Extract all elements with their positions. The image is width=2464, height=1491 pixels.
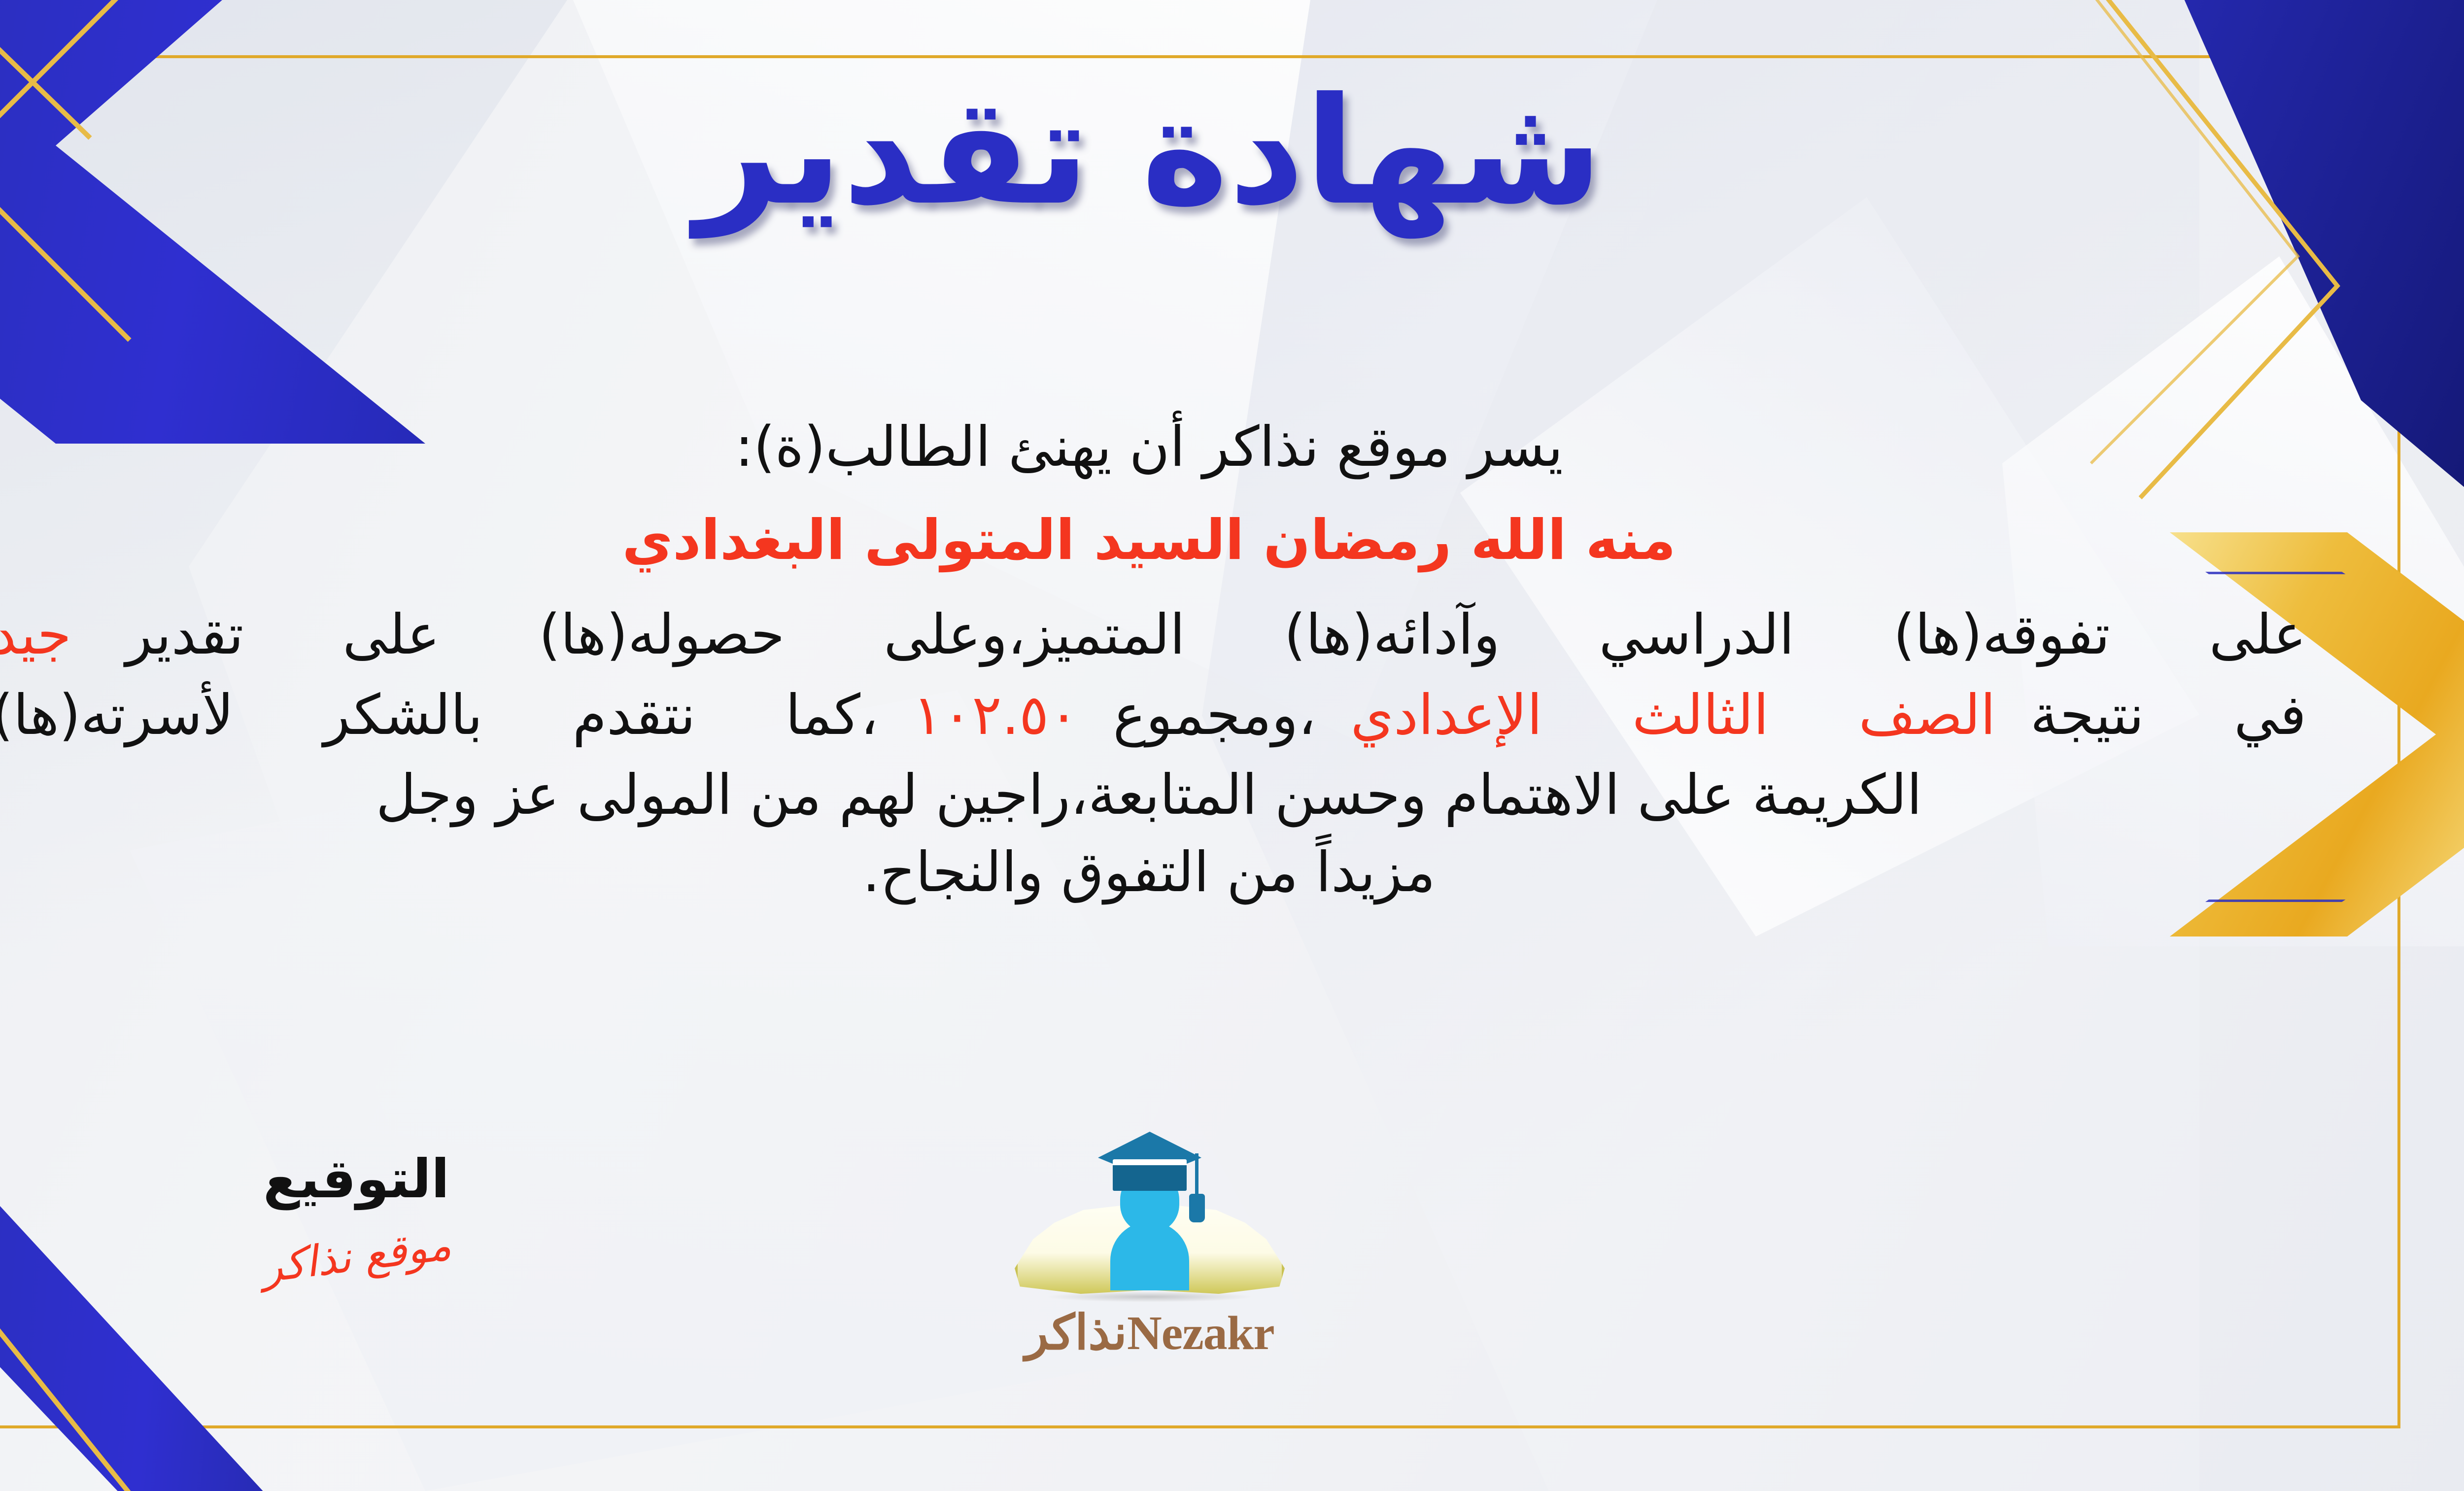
grade-value: جيد — [0, 603, 71, 667]
logo-name-latin: Nezakr — [1127, 1307, 1274, 1360]
total-label: ،ومجموع — [1113, 683, 1316, 747]
graduation-tassel-icon — [1195, 1153, 1198, 1197]
achievement-text: على تفوقه(ها) الدراسي وآدائه(ها) المتميز… — [126, 603, 2306, 667]
closing-line: مزيداً من التفوق والنجاح. — [0, 834, 2306, 911]
student-name: منه الله رمضان السيد المتولى البغدادي — [0, 502, 2306, 579]
signature-block: التوقيع موقع نذاكر — [199, 1148, 514, 1281]
family-thanks-line: الكريمة على الاهتمام وحسن المتابعة،راجين… — [0, 757, 2306, 833]
certificate-canvas: شهادة تقدير يسر موقع نذاكر أن يهنئ الطال… — [0, 0, 2464, 1491]
signature-label: التوقيع — [199, 1148, 514, 1210]
intro-line: يسر موقع نذاكر أن يهنئ الطالب(ة): — [0, 409, 2306, 485]
book-shadow — [1046, 1291, 1253, 1302]
stage-score-line: في نتيجةالصف الثالث الإعدادي،ومجموع١٠٢.٥… — [0, 677, 2306, 754]
certificate-body: يسر موقع نذاكر أن يهنئ الطالب(ة): منه ال… — [0, 409, 2306, 910]
site-logo: Nezakrنذاكر — [967, 1129, 1332, 1361]
logo-wordmark: Nezakrنذاكر — [967, 1304, 1332, 1361]
chevron-gold-lines-top-left — [0, 0, 425, 463]
certificate-title: شهادة تقدير — [0, 74, 2464, 229]
total-score-value: ١٠٢.٥٠ — [913, 683, 1078, 747]
logo-name-arabic: نذاكر — [1025, 1304, 1127, 1361]
stage-value: الصف الثالث الإعدادي — [1350, 683, 1995, 747]
graduation-cap-band-icon — [1113, 1159, 1187, 1191]
achievement-line: على تفوقه(ها) الدراسي وآدائه(ها) المتميز… — [0, 597, 2306, 673]
graduation-tassel-end-icon — [1189, 1194, 1205, 1222]
result-prefix: في نتيجة — [2030, 683, 2306, 747]
graduate-book-icon — [1012, 1129, 1288, 1291]
thanks-text: ،كما نتقدم بالشكر لأسرته(ها) — [0, 683, 878, 747]
